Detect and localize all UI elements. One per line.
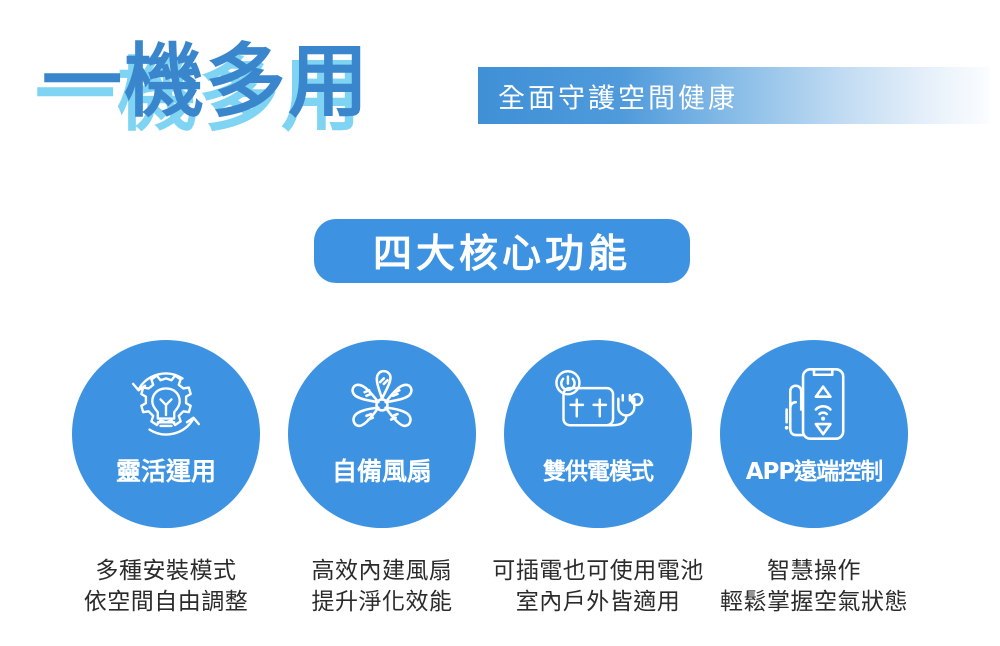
feature-circle: 雙供電模式 — [504, 340, 692, 528]
subtitle-gradient-banner: 全面守護空間健康 — [478, 67, 990, 124]
section-heading-pill: 四大核心功能 — [314, 219, 690, 283]
feature-title: APP遠端控制 — [746, 452, 883, 486]
fan-blades-icon — [336, 362, 428, 446]
feature-list: 靈活運用 多種安裝模式 依空間自由調整 — [0, 338, 1000, 638]
feature-item-flexible-use[interactable]: 靈活運用 多種安裝模式 依空間自由調整 — [58, 338, 274, 638]
smartphone-remote-control-icon — [768, 362, 860, 446]
subtitle-text: 全面守護空間健康 — [498, 76, 738, 115]
feature-caption-line-2: 提升淨化效能 — [274, 587, 490, 618]
feature-item-app-remote-control[interactable]: APP遠端控制 智慧操作 輕鬆掌握空氣狀態 — [706, 338, 922, 638]
feature-title: 靈活運用 — [116, 452, 216, 488]
header-banner: 一機多用 一機多用 全面守護空間健康 — [0, 0, 1000, 165]
feature-item-built-in-fan[interactable]: 自備風扇 高效內建風扇 提升淨化效能 — [274, 338, 490, 638]
feature-circle: 靈活運用 — [72, 340, 260, 528]
feature-item-dual-power[interactable]: 雙供電模式 可插電也可使用電池 室內戶外皆適用 — [490, 338, 706, 638]
feature-caption-line-2: 輕鬆掌握空氣狀態 — [706, 587, 922, 618]
feature-circle: APP遠端控制 — [720, 340, 908, 528]
power-outlet-plug-icon — [552, 362, 644, 446]
feature-caption-line-1: 多種安裝模式 — [58, 556, 274, 587]
feature-title: 自備風扇 — [332, 452, 432, 488]
feature-title: 雙供電模式 — [543, 452, 653, 486]
feature-caption: 多種安裝模式 依空間自由調整 — [58, 556, 274, 618]
feature-caption-line-2: 室內戶外皆適用 — [490, 587, 706, 618]
feature-caption: 高效內建風扇 提升淨化效能 — [274, 556, 490, 618]
gear-lightbulb-refresh-icon — [120, 362, 212, 446]
feature-caption-line-2: 依空間自由調整 — [58, 587, 274, 618]
feature-caption: 智慧操作 輕鬆掌握空氣狀態 — [706, 556, 922, 618]
feature-caption-line-1: 可插電也可使用電池 — [490, 556, 706, 587]
section-heading-label: 四大核心功能 — [373, 223, 631, 279]
feature-caption: 可插電也可使用電池 室內戶外皆適用 — [490, 556, 706, 618]
feature-circle: 自備風扇 — [288, 340, 476, 528]
feature-caption-line-1: 高效內建風扇 — [274, 556, 490, 587]
feature-caption-line-1: 智慧操作 — [706, 556, 922, 587]
page-title: 一機多用 — [42, 32, 370, 132]
headline-group: 一機多用 一機多用 — [42, 32, 462, 137]
